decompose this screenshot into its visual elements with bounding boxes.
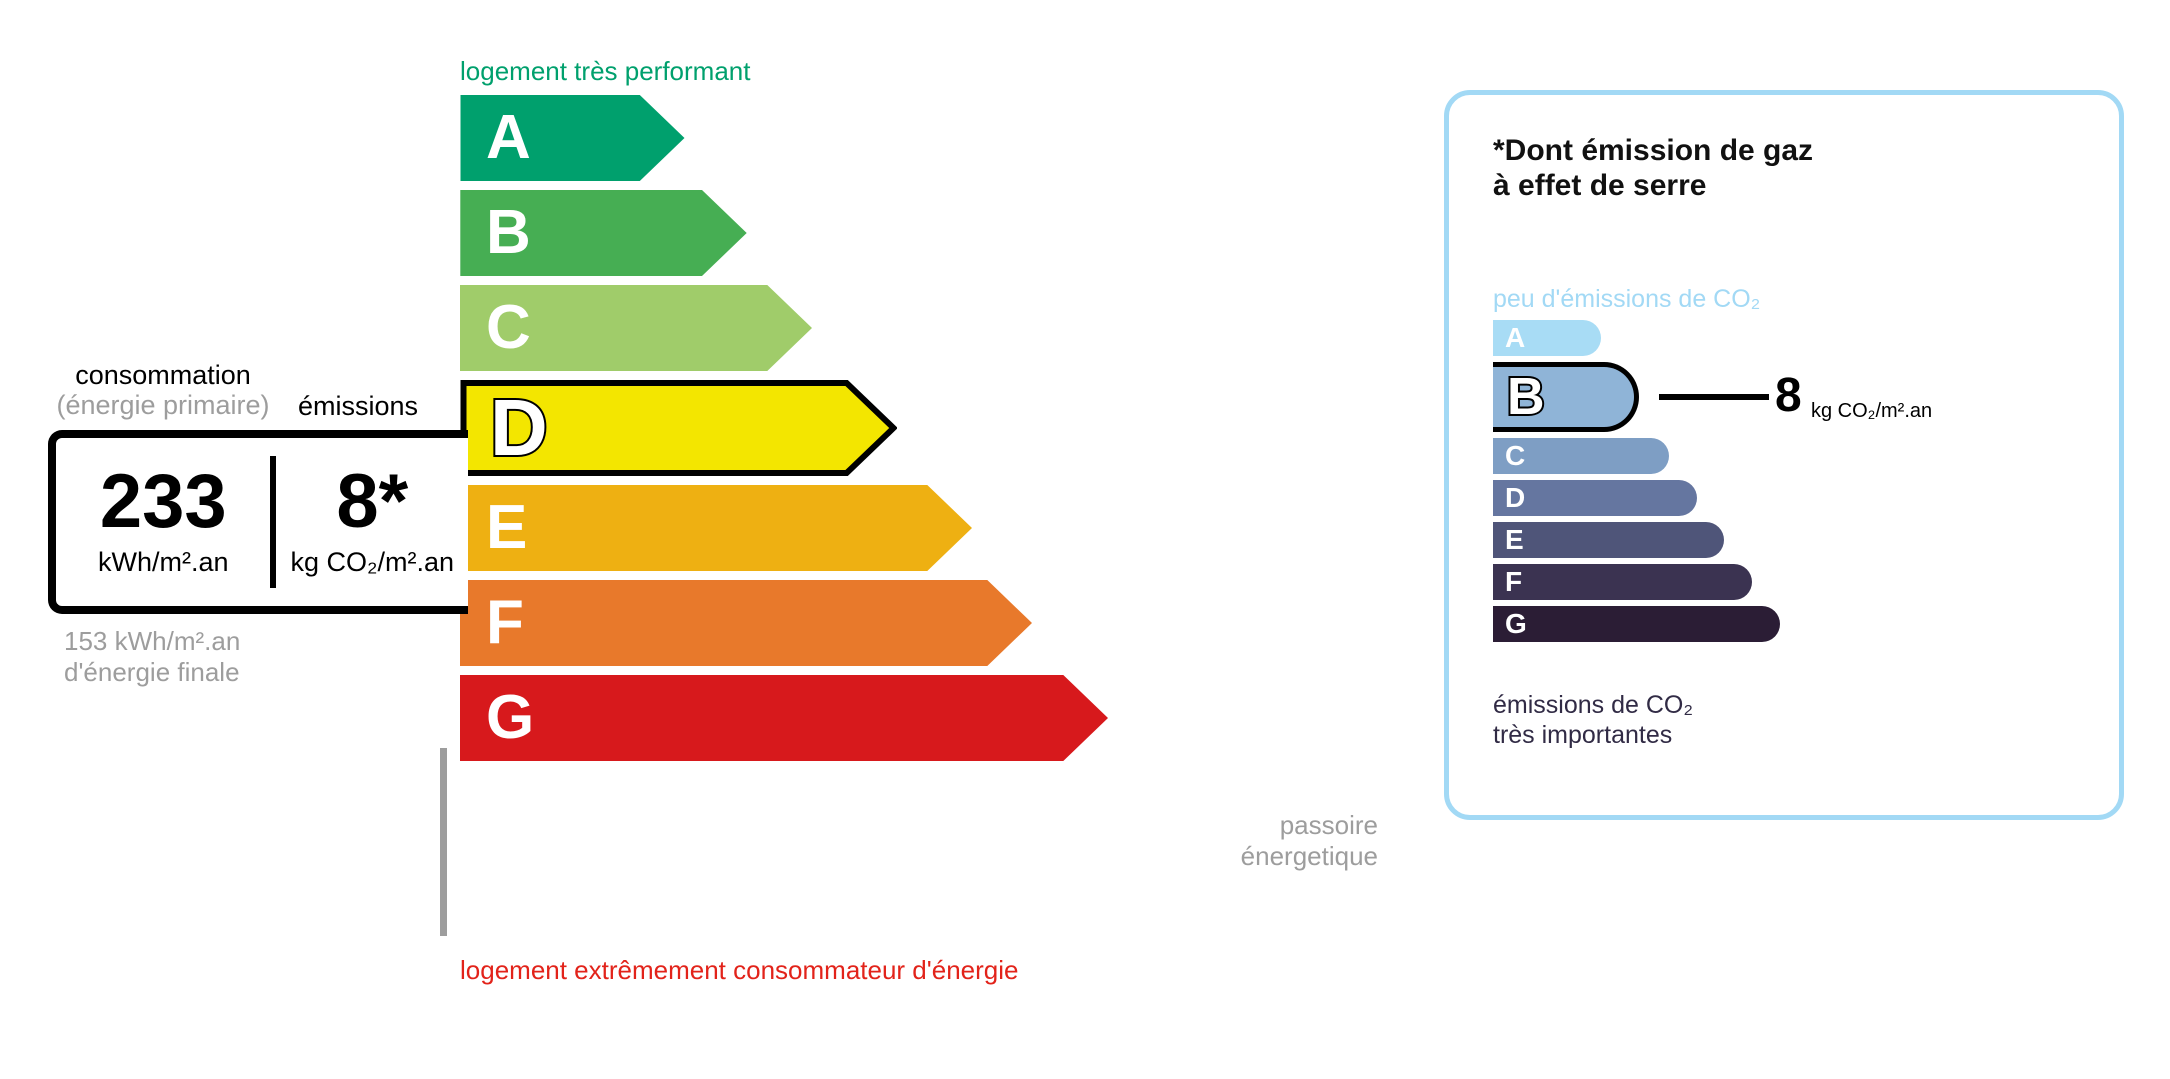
co2-grade-letter-f: F [1505, 568, 1522, 596]
energy-grade-row-e: E [460, 485, 1260, 571]
co2-title-line2: à effet de serre [1493, 168, 1813, 203]
co2-bar-b: B [1493, 362, 1639, 432]
consumption-value: 233 [100, 466, 227, 538]
consumption-header-line2: (énergie primaire) [48, 390, 278, 420]
energy-grade-letter-a: A [486, 107, 531, 169]
co2-grade-letter-e: E [1505, 526, 1524, 554]
energy-arrow-g: G [460, 675, 1260, 761]
co2-grade-row-g: G [1493, 606, 2093, 642]
co2-leader-line [1659, 394, 1769, 400]
energy-bottom-caption: logement extrêmement consommateur d'éner… [460, 955, 1018, 986]
co2-grade-row-b: B8kg CO₂/m².an [1493, 362, 2093, 432]
co2-bottom-caption: émissions de CO₂ très importantes [1493, 691, 1693, 750]
energy-performance-diagram: logement très performant ABCDEFG logemen… [0, 0, 1400, 1079]
energy-arrow-b: B [460, 190, 1260, 276]
energy-arrow-c: C [460, 285, 1260, 371]
co2-grade-row-d: D [1493, 480, 2093, 516]
co2-bar-d: D [1493, 480, 1697, 516]
energy-grade-letter-g: G [486, 687, 534, 749]
final-energy-line2: d'énergie finale [64, 657, 240, 688]
final-energy-note: 153 kWh/m².an d'énergie finale [64, 626, 240, 688]
energy-top-caption: logement très performant [460, 56, 750, 87]
co2-title-line1: *Dont émission de gaz [1493, 133, 1813, 168]
co2-top-caption: peu d'émissions de CO₂ [1493, 285, 1760, 314]
passoire-label: passoire énergetique [1128, 810, 1378, 871]
passoire-marker-bar [440, 748, 447, 936]
energy-arrow-e: E [460, 485, 1260, 571]
co2-bar-a: A [1493, 320, 1601, 356]
energy-arrow-f: F [460, 580, 1260, 666]
co2-grade-letter-g: G [1505, 610, 1527, 638]
co2-grade-ladder: AB8kg CO₂/m².anCDEFG [1493, 320, 2093, 648]
co2-grade-letter-c: C [1505, 442, 1525, 470]
emissions-value-cell: 8* kg CO₂/m².an [276, 438, 468, 606]
co2-grade-letter-a: A [1505, 324, 1525, 352]
energy-grade-row-a: A [460, 95, 1260, 181]
co2-bar-g: G [1493, 606, 1780, 642]
energy-grade-letter-b: B [486, 202, 531, 264]
co2-grade-row-c: C [1493, 438, 2093, 474]
co2-grade-row-e: E [1493, 522, 2093, 558]
consumption-value-cell: 233 kWh/m².an [56, 438, 270, 606]
co2-card: *Dont émission de gaz à effet de serre p… [1444, 90, 2124, 820]
co2-value-unit: kg CO₂/m².an [1811, 400, 1932, 423]
co2-bottom-caption-line1: émissions de CO₂ [1493, 691, 1693, 721]
co2-grade-row-f: F [1493, 564, 2093, 600]
passoire-line2: énergetique [1128, 841, 1378, 872]
co2-value: 8 [1775, 372, 1802, 420]
co2-bottom-caption-line2: très importantes [1493, 721, 1693, 751]
energy-grade-letter-f: F [486, 592, 524, 654]
emissions-header: émissions [298, 391, 418, 422]
value-box: 233 kWh/m².an 8* kg CO₂/m².an [48, 430, 468, 614]
energy-grade-row-g: G [460, 675, 1260, 761]
co2-grade-letter-b: B [1507, 371, 1545, 423]
energy-grade-letter-e: E [486, 497, 527, 559]
co2-grade-letter-d: D [1505, 484, 1525, 512]
energy-grade-letter-c: C [486, 297, 531, 359]
consumption-header: consommation (énergie primaire) [48, 360, 278, 420]
co2-grade-row-a: A [1493, 320, 2093, 356]
energy-grade-ladder: ABCDEFG [460, 95, 1260, 770]
consumption-header-line1: consommation [48, 360, 278, 390]
emissions-value: 8* [336, 466, 408, 538]
energy-grade-row-f: F [460, 580, 1260, 666]
energy-grade-row-b: B [460, 190, 1260, 276]
passoire-line1: passoire [1128, 810, 1378, 841]
energy-grade-row-c: C [460, 285, 1260, 371]
co2-bar-c: C [1493, 438, 1669, 474]
emissions-unit: kg CO₂/m².an [290, 547, 454, 578]
final-energy-line1: 153 kWh/m².an [64, 626, 240, 657]
consumption-unit: kWh/m².an [98, 547, 229, 578]
co2-bar-f: F [1493, 564, 1752, 600]
co2-card-title: *Dont émission de gaz à effet de serre [1493, 133, 1813, 203]
energy-grade-letter-d: D [490, 388, 548, 468]
co2-bar-e: E [1493, 522, 1724, 558]
energy-arrow-a: A [460, 95, 1260, 181]
value-block: 233 kWh/m².an 8* kg CO₂/m².an [48, 430, 468, 614]
energy-arrow-d: D [460, 380, 1260, 476]
energy-grade-row-d: D [460, 380, 1260, 476]
